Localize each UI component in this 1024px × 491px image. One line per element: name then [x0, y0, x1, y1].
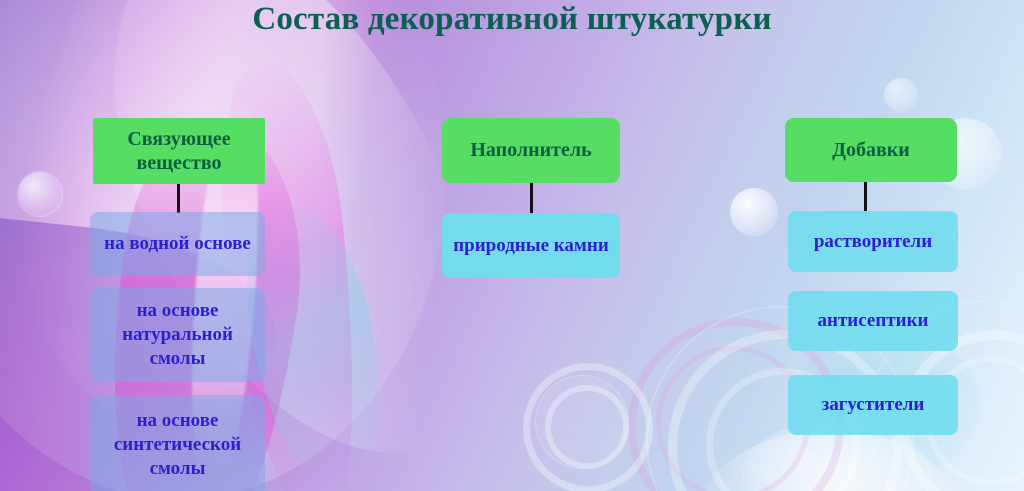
- diagram-head-additives[interactable]: Добавки: [785, 118, 957, 182]
- background-bubble: [884, 78, 918, 112]
- diagram-child-binder-1[interactable]: на водной основе: [90, 212, 265, 276]
- background-white-blob: [700, 430, 960, 491]
- diagram-child-filler-1[interactable]: природные камни: [442, 213, 620, 278]
- diagram-head-filler[interactable]: Наполнитель: [442, 118, 620, 183]
- diagram-child-additives-3[interactable]: загустители: [788, 375, 958, 435]
- background-bubble: [18, 172, 62, 216]
- background-ring: [545, 385, 629, 469]
- page-title: Состав декоративной штукатурки: [0, 1, 1024, 38]
- slide-canvas: Состав декоративной штукатурки Связующее…: [0, 0, 1024, 491]
- background-ring: [523, 363, 653, 491]
- diagram-child-binder-3[interactable]: на основе синтетической смолы: [90, 395, 265, 491]
- diagram-child-additives-2[interactable]: антисептики: [788, 291, 958, 351]
- background-ring: [535, 375, 629, 469]
- connector-line-binder: [177, 184, 180, 213]
- connector-line-filler: [530, 183, 533, 213]
- diagram-child-additives-1[interactable]: растворители: [788, 211, 958, 272]
- connector-line-additives: [864, 182, 867, 211]
- diagram-head-binder[interactable]: Связующее вещество: [93, 118, 265, 184]
- background-ring: [656, 346, 810, 491]
- diagram-child-binder-2[interactable]: на основе натуральной смолы: [90, 288, 265, 382]
- background-bubble: [730, 188, 778, 236]
